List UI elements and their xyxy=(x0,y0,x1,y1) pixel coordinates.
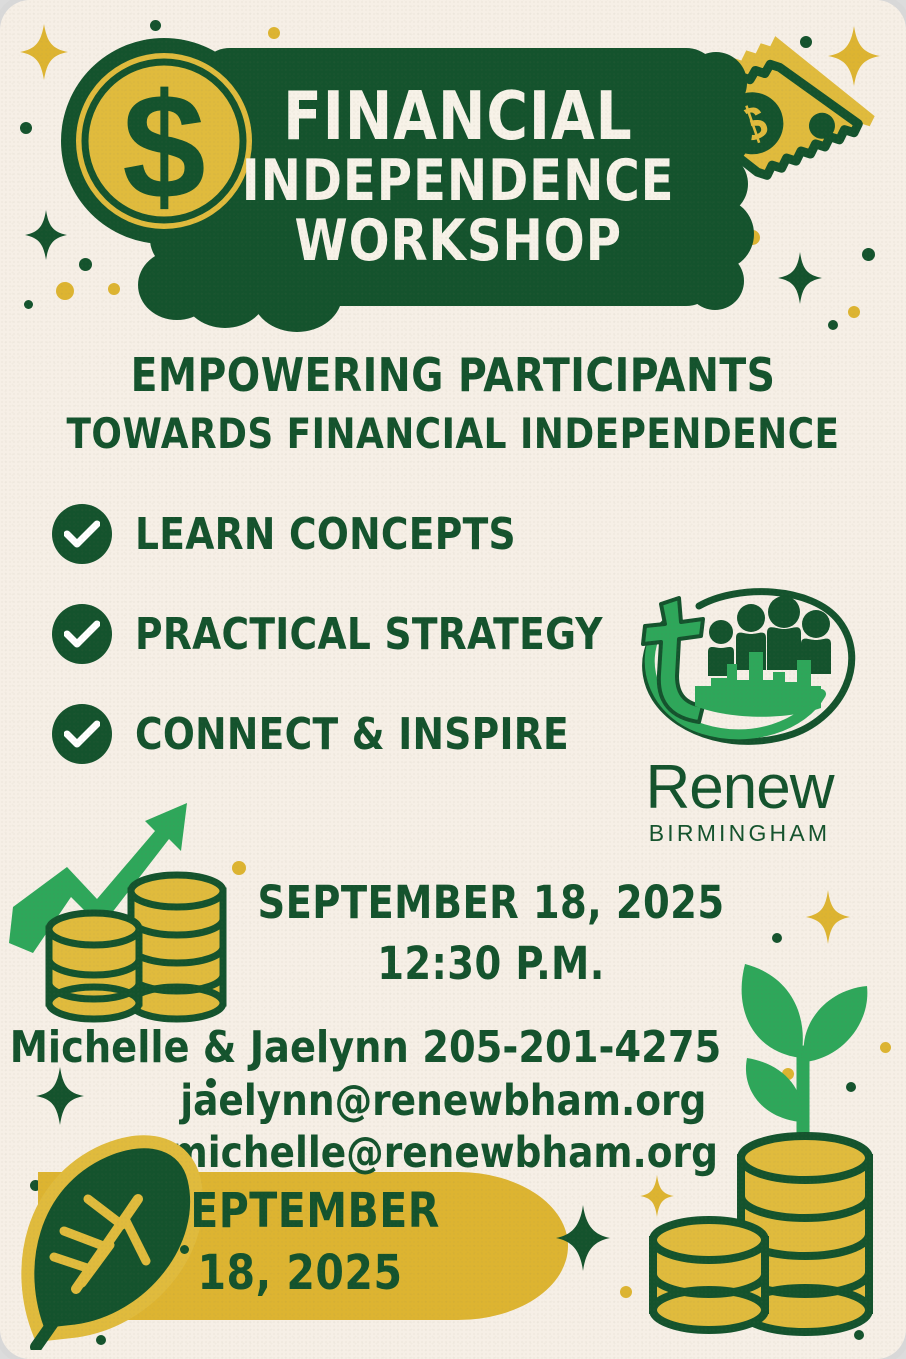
benefits-checklist: LEARN CONCEPTS PRACTICAL STRATEGY CONNEC… xyxy=(52,495,627,795)
coin-stacks-growth-arrow-icon xyxy=(5,795,250,1030)
checklist-item-label: PRACTICAL STRATEGY xyxy=(135,609,603,660)
decor-dot xyxy=(96,1335,106,1345)
checklist-item-connect-inspire: CONNECT & INSPIRE xyxy=(52,695,627,773)
check-icon xyxy=(64,520,100,548)
bottom-banner-text: SEPTEMBER 18, 2025 xyxy=(110,1183,490,1301)
subtitle-block: EMPOWERING PARTICIPANTS TOWARDS FINANCIA… xyxy=(0,348,906,458)
subtitle-line-1: EMPOWERING PARTICIPANTS xyxy=(23,348,884,402)
logo-city-label: BIRMINGHAM xyxy=(607,820,872,847)
check-circle xyxy=(52,704,112,764)
decor-dot xyxy=(854,1330,864,1340)
banner-line-2: 18, 2025 xyxy=(120,1245,481,1301)
checklist-item-learn-concepts: LEARN CONCEPTS xyxy=(52,495,627,573)
check-icon xyxy=(64,620,100,648)
decor-dot xyxy=(56,282,74,300)
subtitle-line-2: TOWARDS FINANCIAL INDEPENDENCE xyxy=(23,409,884,458)
svg-text:$: $ xyxy=(122,62,205,230)
banner-line-1: SEPTEMBER xyxy=(120,1183,481,1239)
check-circle xyxy=(52,604,112,664)
decor-dot xyxy=(79,258,92,271)
sparkle-icon xyxy=(556,1205,610,1271)
title-line-2: INDEPENDENCE xyxy=(242,154,675,210)
renew-birmingham-logo: Renew BIRMINGHAM xyxy=(607,592,872,848)
title-line-3: WORKSHOP xyxy=(294,214,622,270)
logo-mark-icon xyxy=(607,586,872,756)
decor-dot xyxy=(828,320,838,330)
checklist-item-label: CONNECT & INSPIRE xyxy=(135,709,569,760)
check-icon xyxy=(64,720,100,748)
decor-dot xyxy=(150,1268,159,1277)
check-circle xyxy=(52,504,112,564)
decor-dot xyxy=(620,1286,632,1298)
decor-dot xyxy=(24,300,33,309)
decor-dot xyxy=(108,283,120,295)
sparkle-icon xyxy=(778,252,822,304)
checklist-item-label: LEARN CONCEPTS xyxy=(135,509,516,560)
decor-dot xyxy=(20,122,32,134)
decor-dot xyxy=(150,20,161,31)
contact-email-jaelynn[interactable]: jaelynn@renewbham.org xyxy=(14,1076,893,1126)
event-date: SEPTEMBER 18, 2025 xyxy=(249,876,734,929)
contact-names-phone: Michelle & Jaelynn 205-201-4275 xyxy=(0,1022,879,1073)
sparkle-icon xyxy=(640,1175,674,1217)
decor-dot xyxy=(180,1245,189,1254)
poster-flyer: $ FINANCIAL INDEPENDENCE WORKSHOP $ EMPO… xyxy=(0,0,906,1359)
checklist-item-practical-strategy: PRACTICAL STRATEGY xyxy=(52,595,627,673)
sparkle-icon xyxy=(806,890,850,944)
decor-dot xyxy=(848,306,860,318)
title-line-1: FINANCIAL xyxy=(283,84,633,150)
poster-title: FINANCIAL INDEPENDENCE WORKSHOP xyxy=(196,48,720,306)
decor-dot xyxy=(162,1305,174,1317)
logo-wordmark: Renew xyxy=(607,752,872,823)
